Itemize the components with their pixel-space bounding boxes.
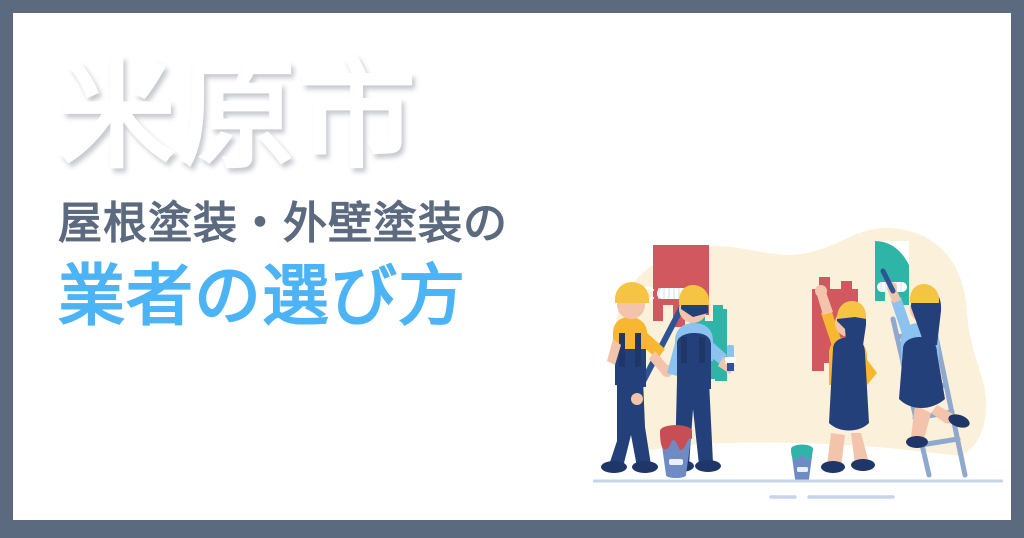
shoe bbox=[632, 461, 658, 473]
hand bbox=[631, 393, 643, 405]
shoe bbox=[906, 436, 928, 448]
subtitle: 屋根塗装・外壁塗装の bbox=[58, 197, 618, 251]
hand bbox=[815, 285, 827, 297]
shoe bbox=[851, 459, 875, 471]
shoe bbox=[601, 461, 627, 473]
banner-card: 米原市 屋根塗装・外壁塗装の 業者の選び方 bbox=[13, 13, 1011, 520]
house-painters-illustration bbox=[593, 209, 1003, 509]
shoe bbox=[821, 461, 845, 473]
text-block: 米原市 屋根塗装・外壁塗装の 業者の選び方 bbox=[58, 51, 618, 337]
headline: 業者の選び方 bbox=[58, 257, 618, 337]
banner-frame: 米原市 屋根塗装・外壁塗装の 業者の選び方 bbox=[0, 0, 1024, 538]
page-title: 米原市 bbox=[58, 51, 618, 183]
shoe bbox=[695, 460, 721, 472]
